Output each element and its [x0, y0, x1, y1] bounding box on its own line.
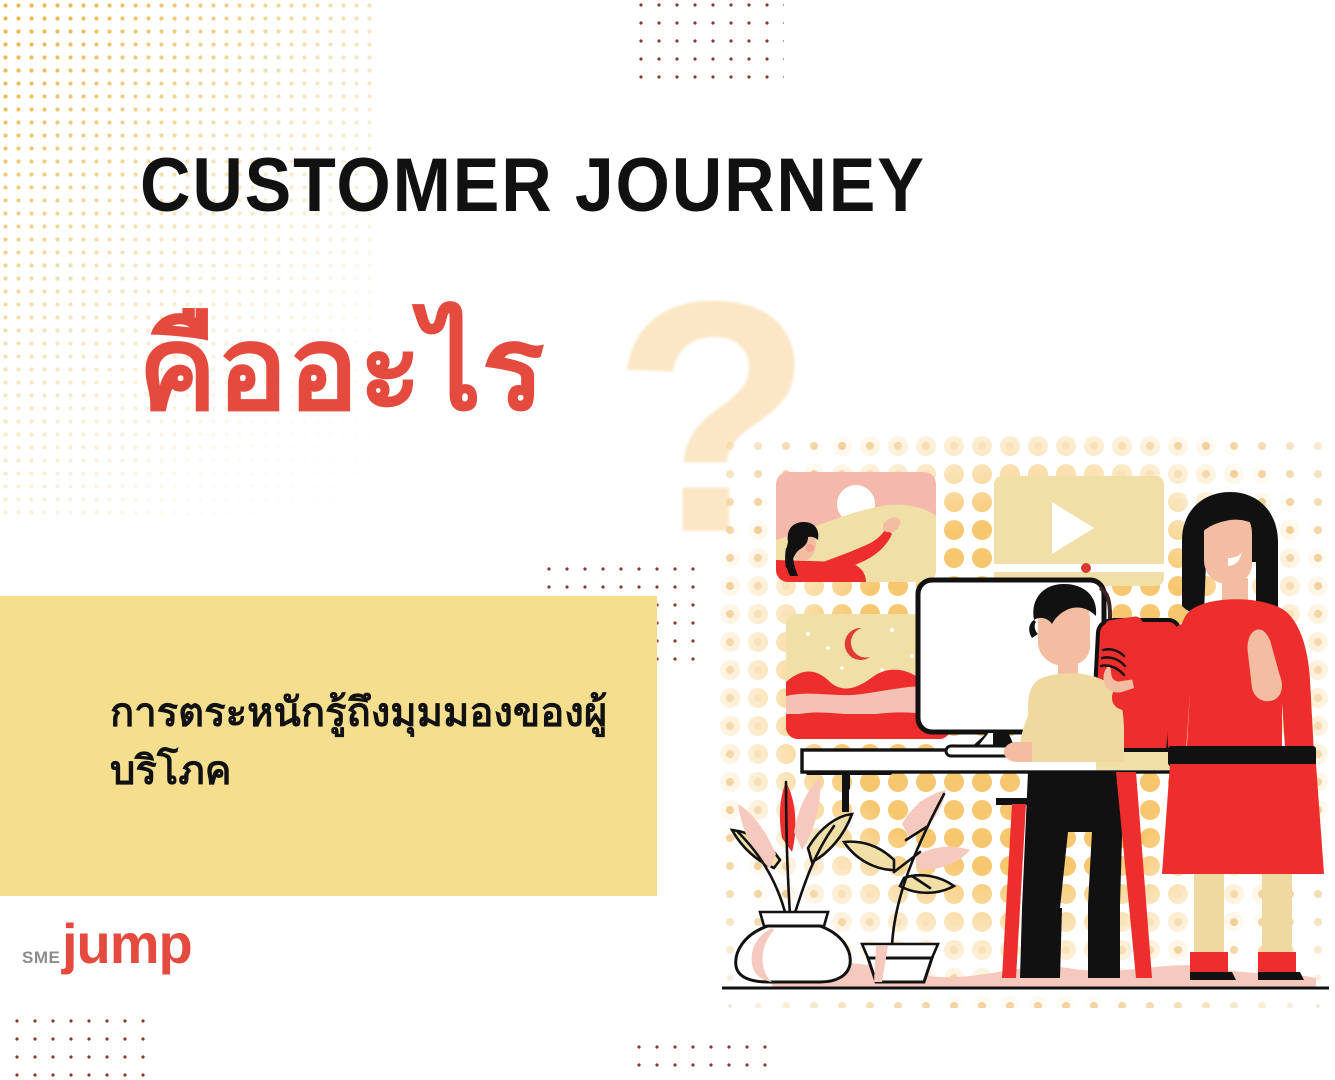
logo-wordmark: jump	[62, 916, 192, 972]
dot-grid-bottom-left	[8, 1012, 148, 1080]
social-media-customer-illustration	[716, 432, 1335, 1008]
logo-prefix: SME	[22, 948, 60, 968]
page-title: CUSTOMER JOURNEY	[140, 148, 926, 224]
dot-grid-top	[632, 0, 784, 82]
slide-canvas: ? CUSTOMER JOURNEY คืออะไร การตระหนักรู้…	[0, 0, 1335, 1080]
halftone-corner-decoration	[0, 0, 380, 520]
banner-description: การตระหนักรู้ถึงมุมมองของผู้บริโภค	[110, 684, 650, 800]
thai-subtitle: คืออะไร	[138, 300, 545, 439]
dot-grid-bottom-center	[630, 1038, 780, 1080]
